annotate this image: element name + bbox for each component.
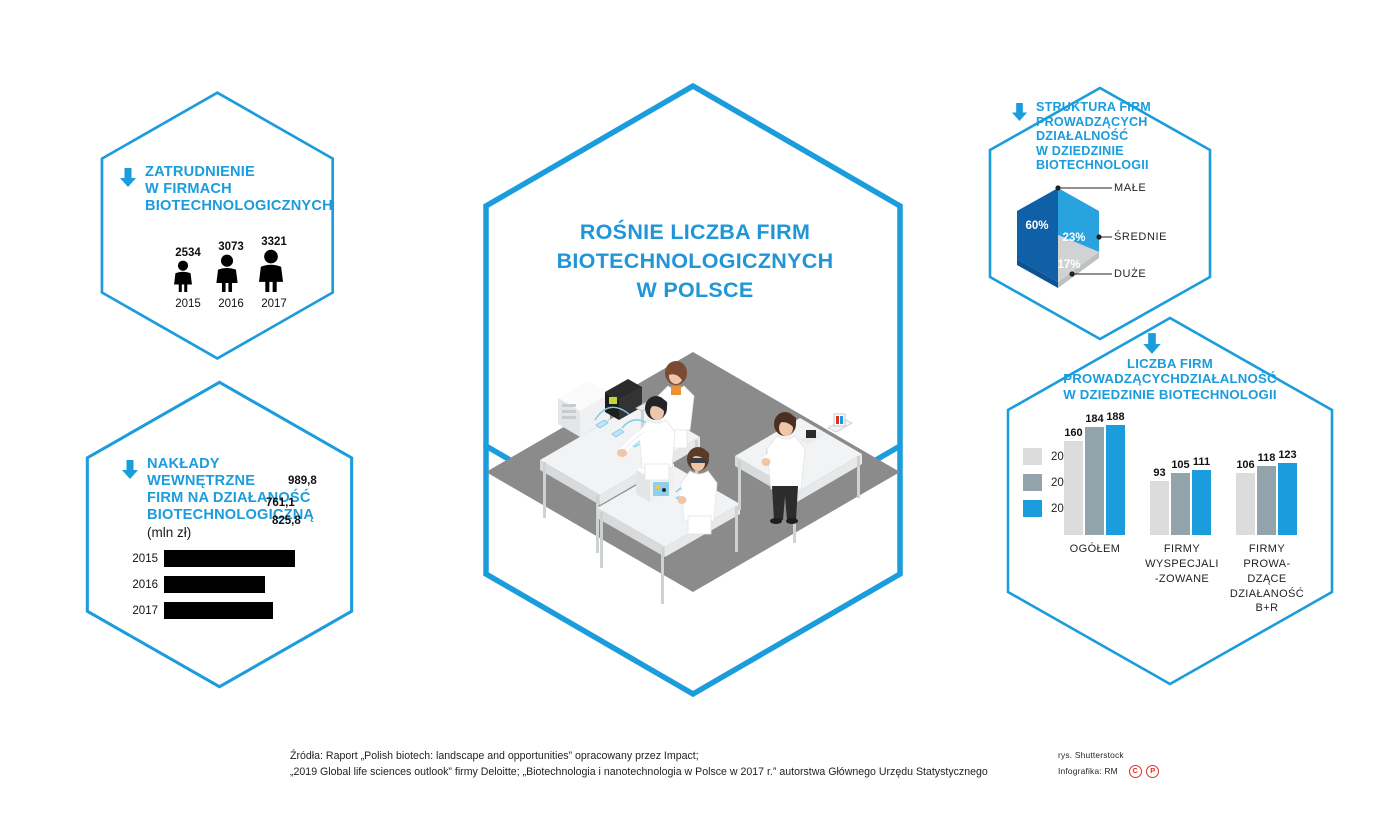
person-icon [254, 249, 288, 292]
bar-value-ogolem-2015: 160 [1062, 427, 1085, 439]
credit-infographic: Infografika: RM [1058, 764, 1118, 780]
bar-wysp-2015 [1150, 481, 1169, 535]
companies-title: LICZBA FIRM PROWADZĄCYCHDZIAŁALNOŚĆ W DZ… [1030, 356, 1310, 402]
footer-credits: rys. Shutterstock Infografika: RM C P [1058, 748, 1238, 780]
companies-category-badania: FIRMY PROWA- DZĄCE DZIAŁANOŚĆ B+R [1224, 542, 1310, 616]
pie-legend-duze: DUŻE [1114, 268, 1146, 280]
bar-value-ogolem-2016: 184 [1083, 413, 1106, 425]
category-line: FIRMY [1224, 542, 1310, 557]
category-line: OGÓŁEM [1054, 542, 1136, 557]
bar-value-ogolem-2017: 188 [1104, 411, 1127, 423]
bar-br-2017 [1278, 463, 1297, 535]
structure-title-line3: DZIAŁALNOŚĆ [1036, 129, 1151, 144]
down-arrow-icon [120, 459, 140, 481]
companies-arrow-icon [1141, 332, 1163, 356]
companies-category-wyspecjalizowane: FIRMY WYSPECJALI -ZOWANE [1140, 542, 1224, 587]
spending-value-2016: 761,1 [266, 497, 295, 509]
center-title: ROŚNIE LICZBA FIRM BIOTECHNOLOGICZNYCH W… [520, 218, 870, 304]
employment-bar-2016: 3073 [212, 241, 250, 292]
spending-bar-2017 [164, 602, 273, 619]
employment-chart: 2534 3073 3321 2015 2016 2017 [170, 232, 290, 308]
bar-group-badania: 106 118 123 [1236, 415, 1298, 535]
legend-swatch-2017 [1023, 500, 1042, 517]
spending-chart: 2015 2016 2017 [128, 550, 348, 619]
bar-group-wyspecjalizowane: 93 105 111 [1150, 415, 1212, 535]
bar-br-2015 [1236, 473, 1255, 535]
pie-label-duze: 17% [1057, 259, 1080, 271]
category-line: PROWA- [1224, 557, 1310, 572]
employment-title-line1: ZATRUDNIENIE [145, 164, 333, 181]
employment-bar-2017: 3321 [254, 236, 294, 292]
legend-swatch-2015 [1023, 448, 1042, 465]
bar-value-wysp-2017: 111 [1190, 456, 1213, 468]
category-line: DZĄCE [1224, 572, 1310, 587]
spending-year-2016: 2016 [128, 579, 158, 591]
structure-title-line4: W DZIEDZINIE [1036, 144, 1151, 159]
person-icon [212, 254, 242, 292]
spending-value-2017: 825,8 [272, 515, 301, 527]
bar-value-wysp-2016: 105 [1169, 459, 1192, 471]
employment-panel: ZATRUDNIENIE W FIRMACH BIOTECHNOLOGICZNY… [118, 164, 378, 215]
employment-bar-2015: 2534 [170, 247, 206, 292]
bar-ogolem-2015 [1064, 441, 1083, 535]
center-title-line1: ROŚNIE LICZBA FIRM [520, 218, 870, 247]
spending-row-2017: 2017 [128, 602, 348, 619]
companies-title-line2: PROWADZĄCYCHDZIAŁALNOŚĆ [1030, 371, 1310, 386]
structure-title-line2: PROWADZĄCYCH [1036, 115, 1151, 130]
employment-year-2016: 2016 [212, 298, 250, 310]
companies-chart: 160 184 188 93 105 111 106 118 123 [1064, 415, 1304, 535]
bar-br-2016 [1257, 466, 1276, 535]
companies-category-ogolem: OGÓŁEM [1054, 542, 1136, 557]
bar-value-br-2017: 123 [1276, 449, 1299, 461]
structure-title-line1: STRUKTURA FIRM [1036, 100, 1151, 115]
category-line: WYSPECJALI [1140, 557, 1224, 572]
person-icon [170, 260, 196, 292]
center-title-line2: BIOTECHNOLOGICZNYCH [520, 247, 870, 276]
bar-group-ogolem: 160 184 188 [1064, 415, 1126, 535]
employment-value-2016: 3073 [212, 241, 250, 253]
companies-title-line3: W DZIEDZINIE BIOTECHNOLOGII [1030, 387, 1310, 402]
structure-title-line5: BIOTECHNOLOGII [1036, 158, 1151, 173]
employment-year-2017: 2017 [254, 298, 294, 310]
spending-year-2015: 2015 [128, 553, 158, 565]
category-line: FIRMY [1140, 542, 1224, 557]
employment-title-line3: BIOTECHNOLOGICZNYCH [145, 198, 333, 215]
pie-label-srednie: 23% [1062, 232, 1085, 244]
bar-wysp-2016 [1171, 473, 1190, 535]
spending-value-2015: 989,8 [288, 475, 317, 487]
center-title-line3: W POLSCE [520, 276, 870, 305]
structure-panel: STRUKTURA FIRM PROWADZĄCYCH DZIAŁALNOŚĆ … [1010, 100, 1200, 173]
legend-swatch-2016 [1023, 474, 1042, 491]
down-arrow-icon [118, 167, 138, 189]
source-line-2: „2019 Global life sciences outlook” firm… [290, 764, 1050, 780]
spending-panel: NAKŁADY WEWNĘTRZNE FIRM NA DZIAŁANOŚĆ BI… [120, 456, 410, 540]
pie-legend-srednie: ŚREDNIE [1114, 231, 1167, 243]
phonogram-mark: P [1146, 765, 1159, 778]
down-arrow-icon [1010, 102, 1029, 123]
bar-wysp-2017 [1192, 470, 1211, 535]
employment-year-2015: 2015 [170, 298, 206, 310]
bar-value-br-2015: 106 [1234, 459, 1257, 471]
spending-row-2016: 2016 [128, 576, 348, 593]
structure-pie-chart: 60% 23% 17% [990, 180, 1200, 295]
category-line: B+R [1224, 601, 1310, 616]
category-line: DZIAŁANOŚĆ [1224, 587, 1310, 602]
source-line-1: Źródła: Raport „Polish biotech: landscap… [290, 748, 1050, 764]
copyright-mark: C [1129, 765, 1142, 778]
pie-legend-male: MAŁE [1114, 182, 1146, 194]
spending-title-line1: NAKŁADY [147, 456, 314, 473]
bar-value-br-2016: 118 [1255, 452, 1278, 464]
bar-value-wysp-2015: 93 [1148, 467, 1171, 479]
spending-bar-2016 [164, 576, 265, 593]
employment-value-2015: 2534 [170, 247, 206, 259]
footer-sources: Źródła: Raport „Polish biotech: landscap… [290, 748, 1050, 781]
spending-row-2015: 2015 [128, 550, 348, 567]
employment-title-line2: W FIRMACH [145, 181, 333, 198]
employment-value-2017: 3321 [254, 236, 294, 248]
companies-title-line1: LICZBA FIRM [1030, 356, 1310, 371]
spending-bar-2015 [164, 550, 295, 567]
credit-photo: rys. Shutterstock [1058, 748, 1238, 764]
bar-ogolem-2017 [1106, 425, 1125, 535]
bar-ogolem-2016 [1085, 427, 1104, 535]
pie-label-male: 60% [1025, 220, 1048, 232]
spending-year-2017: 2017 [128, 605, 158, 617]
category-line: -ZOWANE [1140, 572, 1224, 587]
